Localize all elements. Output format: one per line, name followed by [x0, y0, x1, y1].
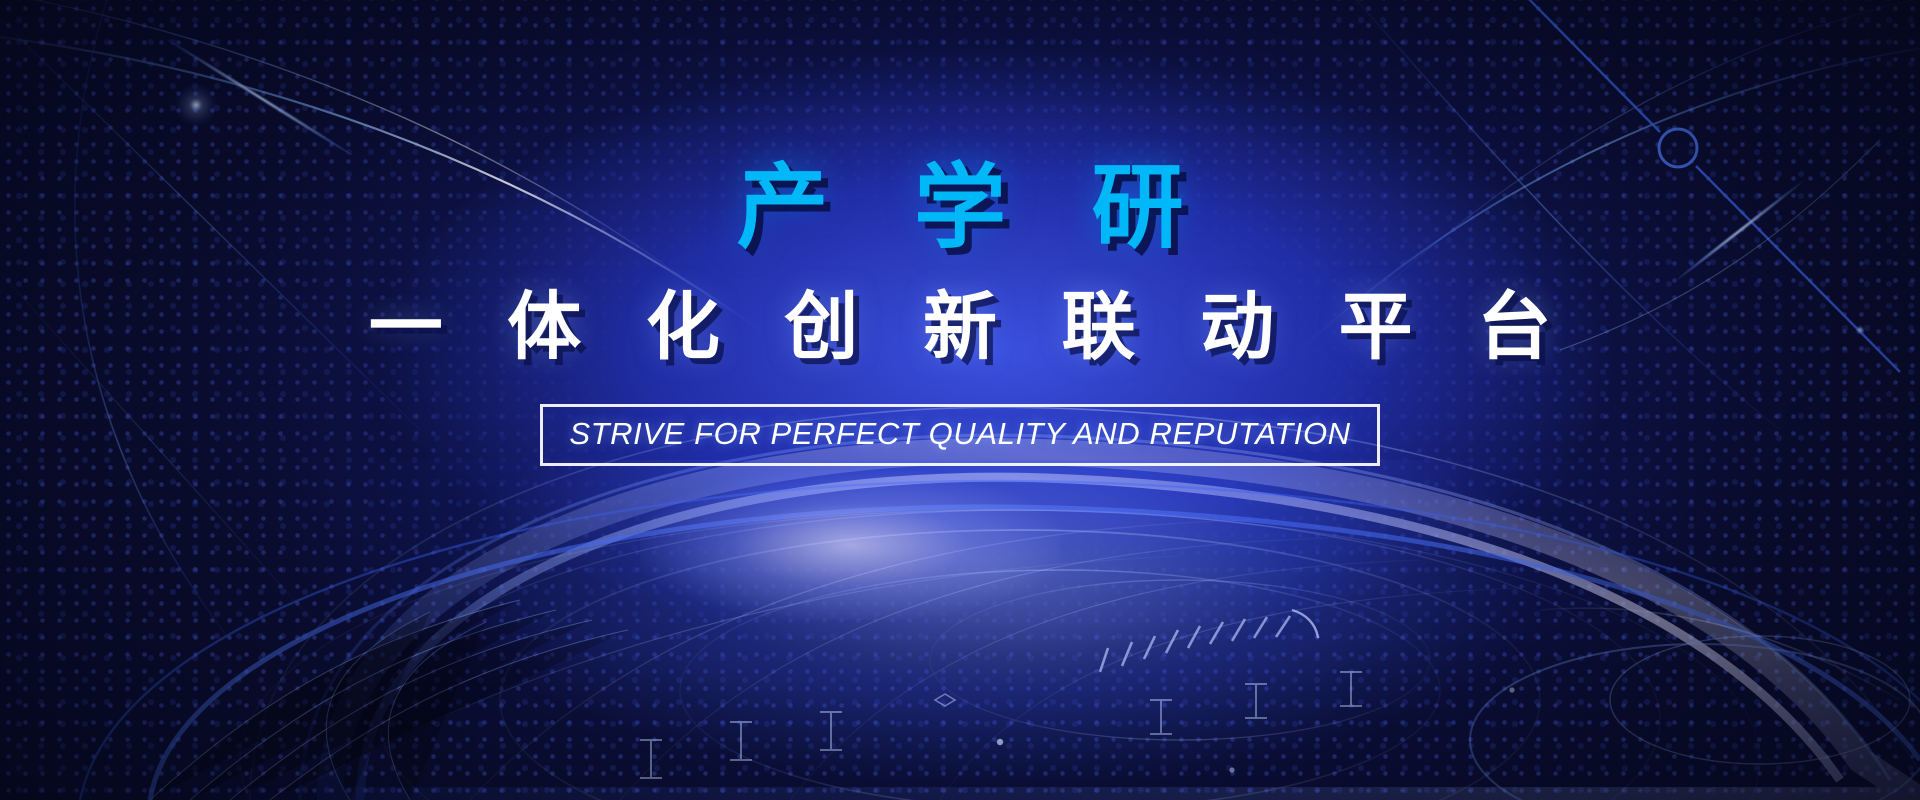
banner-content: 产 学 研 一 体 化 创 新 联 动 平 台 STRIVE FOR PERFE… — [0, 0, 1920, 800]
hero-banner: 产 学 研 一 体 化 创 新 联 动 平 台 STRIVE FOR PERFE… — [0, 0, 1920, 800]
banner-english-tagline: STRIVE FOR PERFECT QUALITY AND REPUTATIO… — [569, 416, 1350, 452]
banner-title-main: 产 学 研 — [706, 162, 1213, 254]
tagline-box: STRIVE FOR PERFECT QUALITY AND REPUTATIO… — [540, 404, 1379, 466]
banner-title-sub: 一 体 化 创 新 联 动 平 台 — [347, 290, 1573, 364]
